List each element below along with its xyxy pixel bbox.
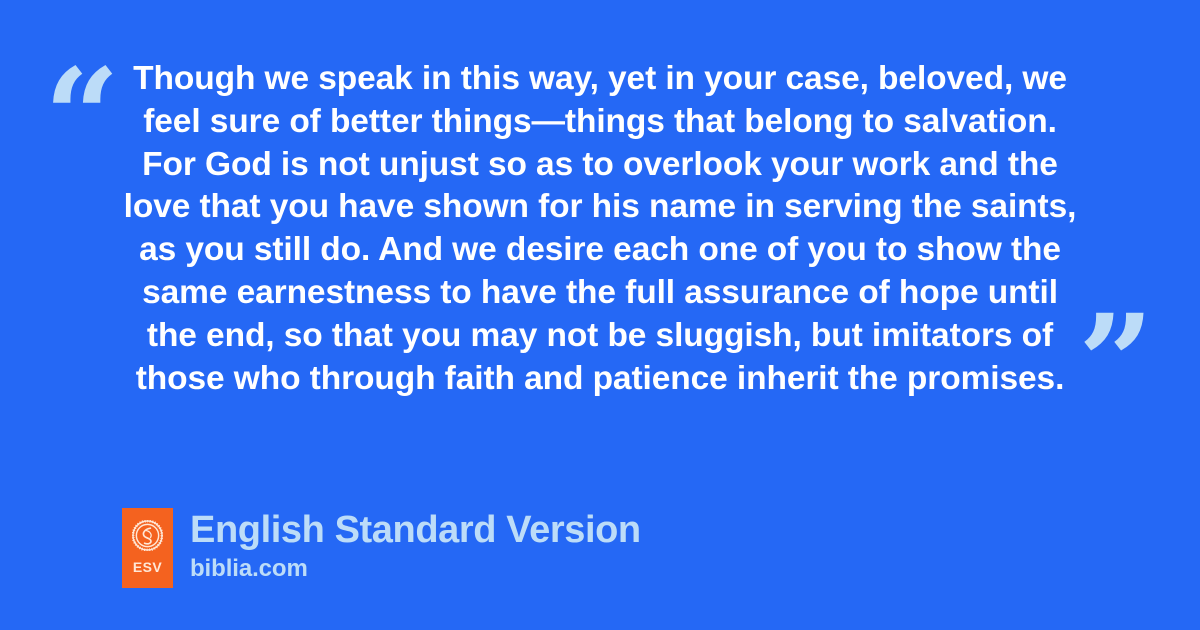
esv-seal-icon — [132, 520, 163, 551]
quote-text: Though we speak in this way, yet in your… — [120, 58, 1080, 400]
site-url-link[interactable]: biblia.com — [190, 555, 641, 582]
esv-logo[interactable]: ESV — [122, 508, 173, 588]
esv-logo-label: ESV — [133, 560, 162, 574]
bible-version-name: English Standard Version — [190, 508, 641, 552]
quote-block: “ Though we speak in this way, yet in yo… — [0, 58, 1200, 428]
quote-card: “ Though we speak in this way, yet in yo… — [0, 0, 1200, 630]
close-quote-icon: ” — [1078, 298, 1154, 430]
attribution-footer[interactable]: ESV English Standard Version biblia.com — [122, 508, 641, 588]
footer-text-group: English Standard Version biblia.com — [190, 508, 641, 582]
open-quote-icon: “ — [44, 52, 120, 184]
